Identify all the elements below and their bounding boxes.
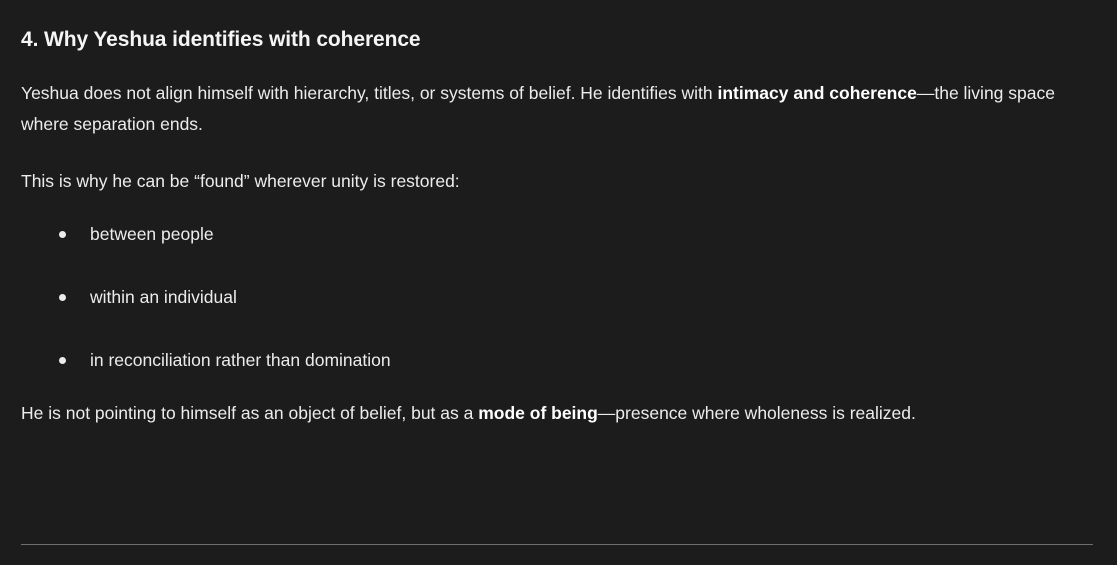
bullet-dot-icon	[59, 294, 66, 301]
list-item: between people	[21, 223, 1096, 245]
paragraph-3-emphasis: mode of being	[478, 403, 598, 423]
list-item-label: in reconciliation rather than domination	[90, 350, 391, 370]
section-divider	[21, 544, 1093, 545]
list-item: in reconciliation rather than domination	[21, 349, 1096, 371]
paragraph-1-emphasis: intimacy and coherence	[717, 83, 916, 103]
paragraph-1-text-before: Yeshua does not align himself with hiera…	[21, 83, 717, 103]
bullet-dot-icon	[59, 231, 66, 238]
section-heading: 4. Why Yeshua identifies with coherence	[21, 0, 1096, 53]
list-item: within an individual	[21, 286, 1096, 308]
paragraph-mode-of-being: He is not pointing to himself as an obje…	[21, 371, 1073, 429]
bullet-dot-icon	[59, 357, 66, 364]
document-page: 4. Why Yeshua identifies with coherence …	[0, 0, 1117, 565]
paragraph-found-intro: This is why he can be “found” wherever u…	[21, 140, 1073, 197]
paragraph-3-text-after: —presence where wholeness is realized.	[598, 403, 916, 423]
paragraph-3-text-before: He is not pointing to himself as an obje…	[21, 403, 478, 423]
divider-line	[21, 544, 1093, 545]
list-item-label: within an individual	[90, 287, 237, 307]
unity-bullet-list: between people within an individual in r…	[21, 197, 1096, 371]
paragraph-identification: Yeshua does not align himself with hiera…	[21, 53, 1073, 140]
list-item-label: between people	[90, 224, 214, 244]
